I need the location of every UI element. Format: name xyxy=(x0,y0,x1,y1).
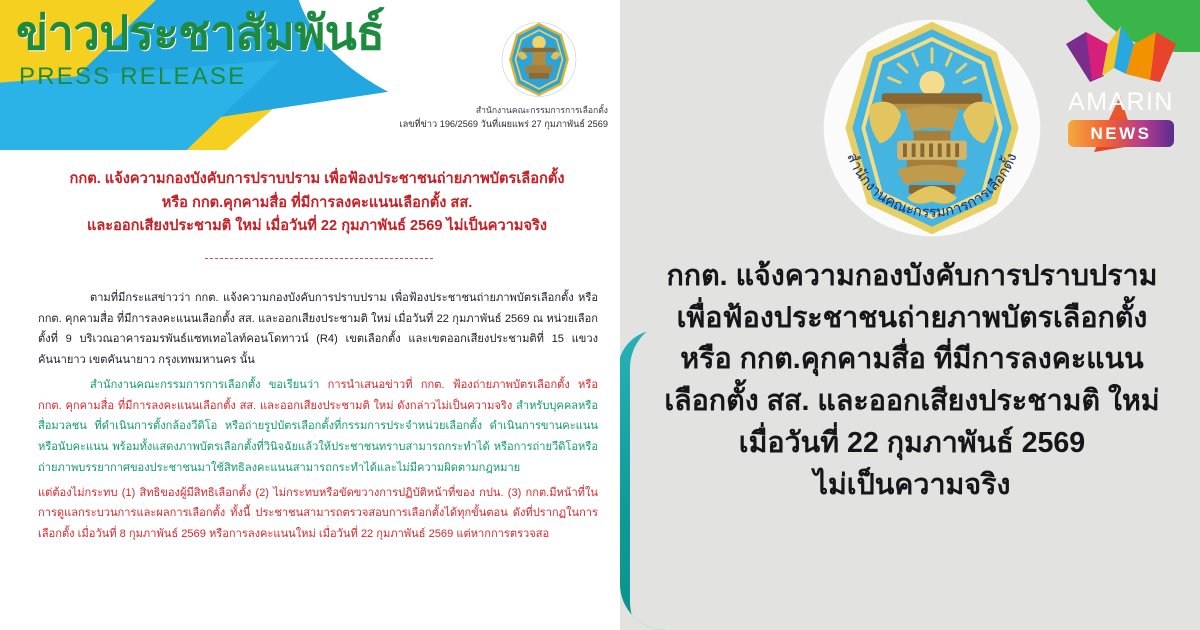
document-sheet: ข่าวประชาสัมพันธ์ PRESS RELEASE สำนักงาน… xyxy=(0,0,630,630)
banner-title-thai: ข่าวประชาสัมพันธ์ xyxy=(16,8,385,57)
press-release-document: ข่าวประชาสัมพันธ์ PRESS RELEASE สำนักงาน… xyxy=(0,0,630,630)
title-divider xyxy=(205,258,433,259)
headline-line: เมื่อวันที่ 22 กุมภาพันธ์ 2569 xyxy=(638,423,1186,465)
news-card: สำนักงานคณะกรรมการการเลือกตั้ง AMARIN NE… xyxy=(620,0,1200,630)
headline-line: ไม่เป็นความจริง xyxy=(638,465,1186,507)
news-card-inner: สำนักงานคณะกรรมการการเลือกตั้ง AMARIN NE… xyxy=(620,0,1200,630)
card-headline: กกต. แจ้งความกองบังคับการปราบปราม เพื่อฟ… xyxy=(638,256,1186,506)
news-badge: NEWS xyxy=(1068,120,1174,147)
amarin-crown-icon xyxy=(1064,24,1178,86)
press-release-graphic: ข่าวประชาสัมพันธ์ PRESS RELEASE สำนักงาน… xyxy=(0,0,1200,630)
headline-line: หรือ กกต.คุกคามสื่อ ที่มีการลงคะแนน xyxy=(638,339,1186,381)
document-title: กกต. แจ้งความกองบังคับการปราบปราม เพื่อฟ… xyxy=(34,168,600,239)
banner-title-english: PRESS RELEASE xyxy=(19,63,246,91)
document-title-line: และออกเสียงประชามติ ใหม่ เมื่อวันที่ 22 … xyxy=(34,215,600,239)
document-title-line: หรือ กกต.คุกคามสื่อ ที่มีการลงคะแนนเลือก… xyxy=(34,192,600,216)
headline-line: เลือกตั้ง สส. และออกเสียงประชามติ ใหม่ xyxy=(638,381,1186,423)
document-paragraph-3: แต่ต้องไม่กระทบ (1) สิทธิของผู้มีสิทธิเล… xyxy=(38,483,598,545)
document-body: ตามที่มีกระแสข่าวว่า กกต. แจ้งความกองบัง… xyxy=(38,288,598,549)
document-organization: สำนักงานคณะกรรมการการเลือกตั้ง xyxy=(0,103,620,117)
ect-seal-icon: สำนักงานคณะกรรมการการเลือกตั้ง xyxy=(816,12,1048,244)
ect-seal-icon xyxy=(497,16,581,108)
news-badge-label: NEWS xyxy=(1068,120,1174,147)
headline-line: เพื่อฟ้องประชาชนถ่ายภาพบัตรเลือกตั้ง xyxy=(638,298,1186,340)
headline-line: กกต. แจ้งความกองบังคับการปราบปราม xyxy=(638,256,1186,298)
paragraph-2-part-a: สำนักงานคณะกรรมการการเลือกตั้ง ขอเรียนว่… xyxy=(90,379,328,391)
document-news-number: เลขที่ข่าว 196/2569 วันที่เผยแพร่ 27 กุม… xyxy=(0,117,620,132)
document-paragraph-2: สำนักงานคณะกรรมการการเลือกตั้ง ขอเรียนว่… xyxy=(38,375,598,479)
document-paragraph-1: ตามที่มีกระแสข่าวว่า กกต. แจ้งความกองบัง… xyxy=(38,288,598,371)
amarin-news-logo: AMARIN NEWS xyxy=(1058,24,1184,150)
amarin-wordmark: AMARIN xyxy=(1058,88,1184,117)
document-title-line: กกต. แจ้งความกองบังคับการปราบปราม เพื่อฟ… xyxy=(34,168,600,192)
